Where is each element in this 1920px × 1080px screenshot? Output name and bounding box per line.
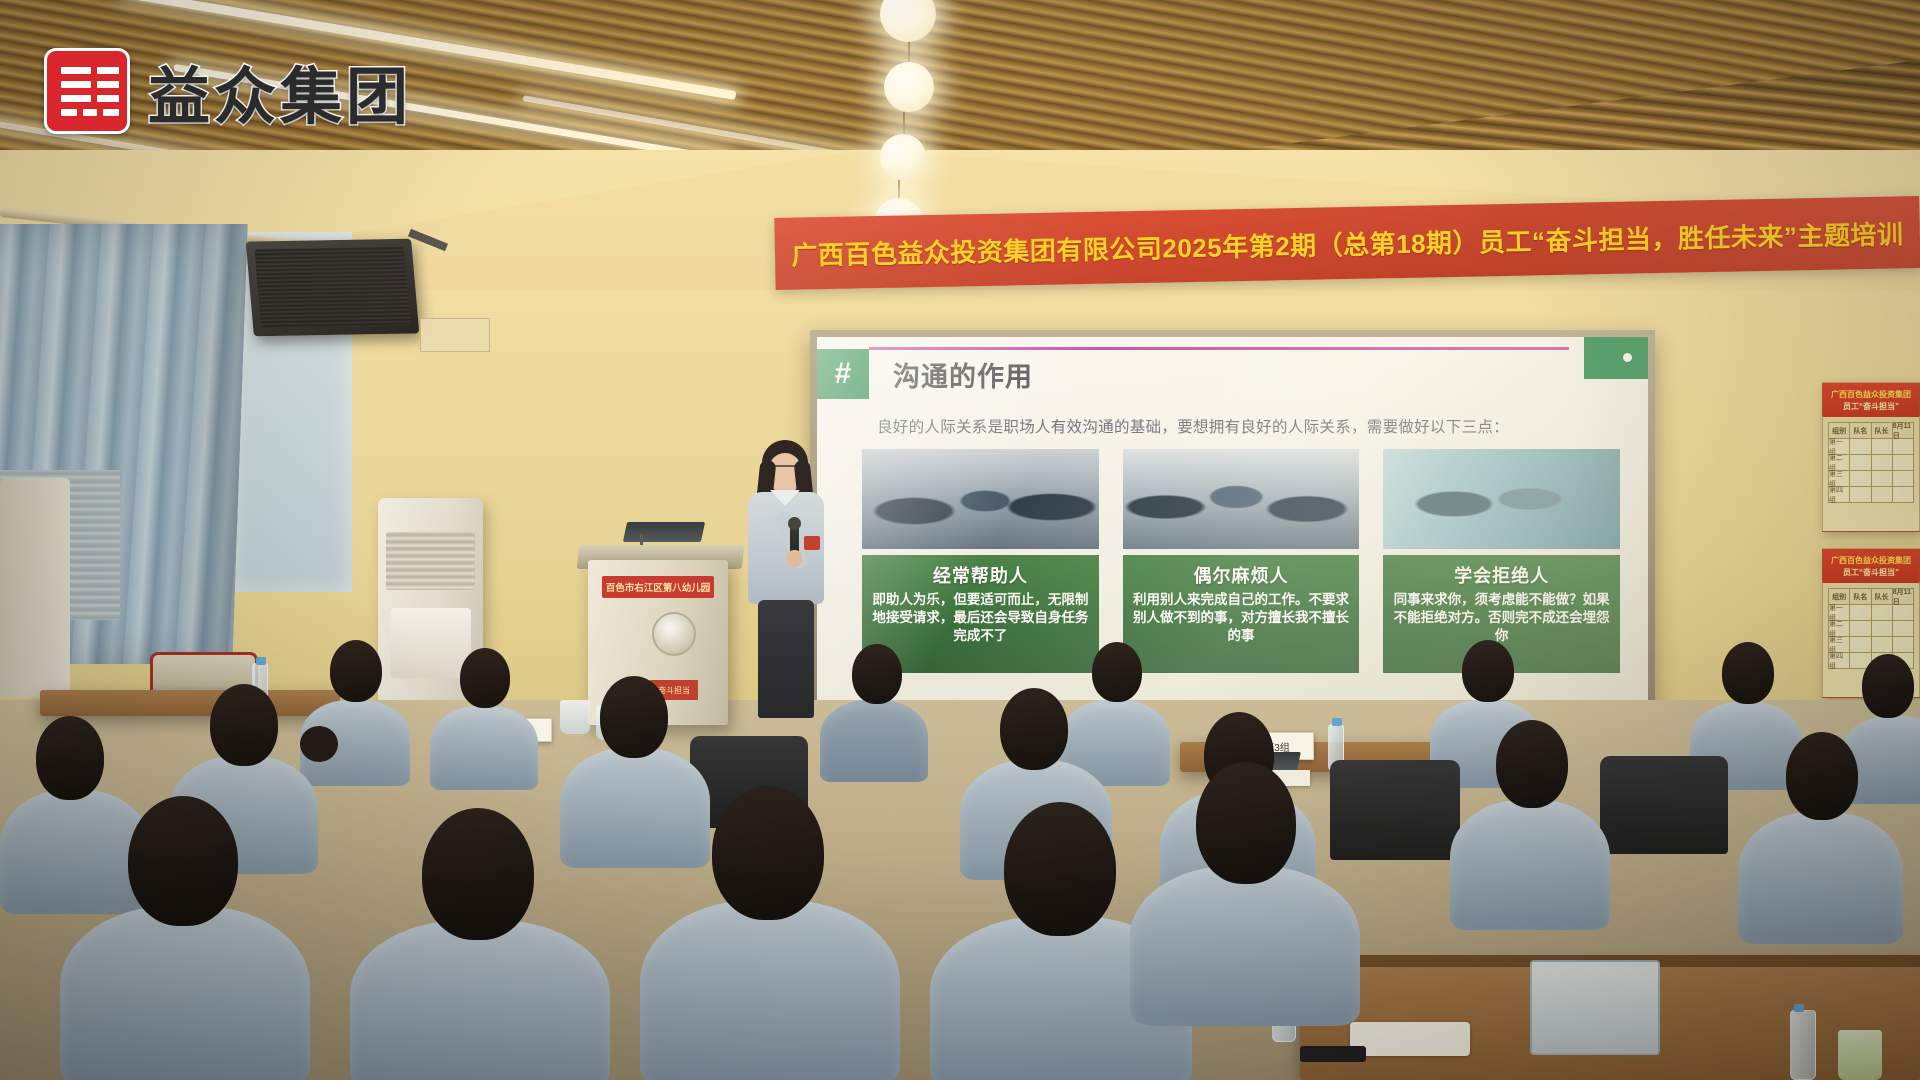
poster-col: 队名 (1850, 423, 1870, 438)
poster-cell (1893, 439, 1913, 454)
wall-speaker (246, 239, 420, 337)
slide-corner-accent (1584, 337, 1648, 379)
air-conditioner-left (0, 478, 70, 698)
poster-cell: 第四组 (1829, 653, 1849, 668)
attendee-head (712, 786, 824, 920)
brand-name: 益众集团 (148, 46, 412, 136)
attendee-body (350, 920, 610, 1080)
poster-cell (1850, 439, 1870, 454)
projection-screen: # 沟通的作用 良好的人际关系是职场人有效沟通的基础，要想拥有良好的人际关系，需… (817, 337, 1648, 703)
attendee-head (330, 640, 382, 702)
poster-cell (1850, 605, 1870, 620)
attendee-body (560, 748, 710, 868)
poster-header: 广西百色益众投资集团 员工“奋斗担当” (1823, 383, 1919, 417)
poster-cell (1872, 637, 1892, 652)
card-photo-2 (1123, 449, 1360, 549)
ac-control-panel (390, 608, 471, 678)
chair-back (1600, 756, 1728, 854)
presenter-hand (787, 550, 802, 567)
attendee-head (210, 684, 278, 766)
poster-col: 队名 (1850, 589, 1870, 604)
wall-notice (420, 318, 490, 352)
attendee-body (1130, 866, 1360, 1026)
storage-basket (1530, 960, 1660, 1055)
poster-cell (1850, 455, 1870, 470)
attendee-head (600, 676, 668, 758)
attendee-head (1786, 732, 1858, 820)
hash-badge-icon: # (817, 349, 869, 399)
slide-card: 经常帮助人 即助人为乐，但要适可而止，无限制地接受请求，最后还会导致自身任务完成… (862, 449, 1099, 673)
poster-line2: 员工“奋斗担当” (1843, 567, 1899, 578)
poster-line1: 广西百色益众投资集团 (1831, 389, 1911, 400)
chair-back (1330, 760, 1460, 860)
poster-cell (1872, 471, 1892, 486)
poster-cell (1872, 605, 1892, 620)
attendee-head (1722, 642, 1774, 704)
card-heading: 偶尔麻烦人 (1131, 562, 1352, 588)
attendee-head (128, 796, 238, 926)
attendee-head (36, 716, 104, 800)
presenter (740, 440, 832, 720)
ac-vent (386, 532, 475, 590)
projection-screen-frame: # 沟通的作用 良好的人际关系是职场人有效沟通的基础，要想拥有良好的人际关系，需… (810, 330, 1655, 710)
poster-cell (1872, 487, 1892, 502)
attendee-head (1462, 640, 1514, 702)
attendee-head (422, 808, 534, 940)
poster-cell (1893, 605, 1913, 620)
slide-title-bar: # 沟通的作用 (817, 349, 1033, 399)
card-text: 利用别人来完成自己的工作。不要求别人做不到的事，对方擅长我不擅长的事 (1131, 591, 1352, 644)
banner-text: 广西百色益众投资集团有限公司2025年第2期（总第18期）员工“奋斗担当，胜任未… (791, 214, 1904, 272)
attendee-body (1738, 812, 1903, 944)
card-heading: 学会拒绝人 (1391, 562, 1612, 588)
side-table (40, 690, 340, 716)
poster-table: 组别 队名 队长 8月11日 第一组 第二组 第三组 第四组 (1828, 422, 1914, 503)
poster-cell (1850, 487, 1870, 502)
attendee-body (820, 700, 928, 782)
card-body: 偶尔麻烦人 利用别人来完成自己的工作。不要求别人做不到的事，对方擅长我不擅长的事 (1123, 555, 1360, 673)
training-room-photo: 广西百色益众投资集团有限公司2025年第2期（总第18期）员工“奋斗担当，胜任未… (0, 0, 1920, 1080)
poster-cell (1893, 621, 1913, 636)
presenter-badge (804, 536, 820, 550)
card-text: 即助人为乐，但要适可而止，无限制地接受请求，最后还会导致自身任务完成不了 (870, 591, 1091, 644)
attendee-head (460, 648, 510, 708)
poster-cell (1872, 455, 1892, 470)
poster-line2: 员工“奋斗担当” (1843, 401, 1899, 412)
poster-table: 组别 队名 队长 8月11日 第一组 第二组 第三组 第四组 (1828, 588, 1914, 669)
pendant-lamp-globe (884, 62, 934, 112)
slide-card: 偶尔麻烦人 利用别人来完成自己的工作。不要求别人做不到的事，对方擅长我不擅长的事 (1123, 449, 1360, 673)
attendee-head (1000, 688, 1068, 770)
slide-cards: 经常帮助人 即助人为乐，但要适可而止，无限制地接受请求，最后还会导致自身任务完成… (862, 449, 1620, 673)
poster-cell (1872, 439, 1892, 454)
attendee-body (1450, 800, 1610, 930)
slide-subtitle: 良好的人际关系是职场人有效沟通的基础，要想拥有良好的人际关系，需要做好以下三点： (877, 415, 1608, 437)
poster-cell (1850, 471, 1870, 486)
poster-cell (1893, 455, 1913, 470)
poster-col: 队长 (1872, 589, 1892, 604)
green-cup (1838, 1030, 1882, 1080)
attendee-body (640, 900, 900, 1080)
attendee-head (1862, 654, 1914, 718)
attendee-body (430, 706, 538, 790)
poster-header: 广西百色益众投资集团 员工“奋斗担当” (1823, 549, 1919, 583)
attendee-head (852, 644, 902, 704)
seal-logo-icon (44, 48, 130, 134)
pendant-lamp-globe (880, 134, 926, 180)
poster-cell (1893, 471, 1913, 486)
card-text: 同事来求你，须考虑能不能做？如果不能拒绝对方。否则完不成还会埋怨你 (1391, 591, 1612, 644)
brand-watermark: 益众集团 (44, 46, 412, 136)
card-photo-3 (1383, 449, 1620, 549)
poster-line1: 广西百色益众投资集团 (1831, 555, 1911, 566)
poster-cell: 第四组 (1829, 487, 1849, 502)
paper-stack (1350, 1022, 1470, 1056)
card-photo-1 (862, 449, 1099, 549)
poster-cell (1872, 621, 1892, 636)
attendee-body (60, 906, 310, 1080)
poster-col: 队长 (1872, 423, 1892, 438)
water-bottle (1790, 1010, 1816, 1080)
poster-cell (1893, 487, 1913, 502)
card-body: 经常帮助人 即助人为乐，但要适可而止，无限制地接受请求，最后还会导致自身任务完成… (862, 555, 1099, 673)
card-heading: 经常帮助人 (870, 562, 1091, 588)
slide-card: 学会拒绝人 同事来求你，须考虑能不能做？如果不能拒绝对方。否则完不成还会埋怨你 (1383, 449, 1620, 673)
poster-col: 8月11日 (1893, 589, 1913, 604)
smartphone (1300, 1046, 1366, 1062)
poster-cell (1850, 637, 1870, 652)
paper-cup (560, 700, 590, 734)
attendee-head (1004, 802, 1116, 936)
wall-poster: 广西百色益众投资集团 员工“奋斗担当” 组别 队名 队长 8月11日 第一组 第… (1822, 382, 1920, 532)
presenter-legs (758, 600, 814, 718)
attendee-head (1092, 642, 1142, 702)
attendee-head (1496, 720, 1568, 808)
lectern-laptop (623, 522, 705, 542)
slide-title: 沟通的作用 (893, 355, 1033, 394)
lectern-name-plate: 百色市右江区第八幼儿园 (602, 576, 714, 598)
attendee-hair-bun (300, 726, 338, 762)
poster-cell (1850, 621, 1870, 636)
poster-col: 8月11日 (1893, 423, 1913, 438)
attendee-head (1196, 762, 1296, 884)
lectern-emblem (652, 612, 696, 656)
poster-cell (1893, 637, 1913, 652)
